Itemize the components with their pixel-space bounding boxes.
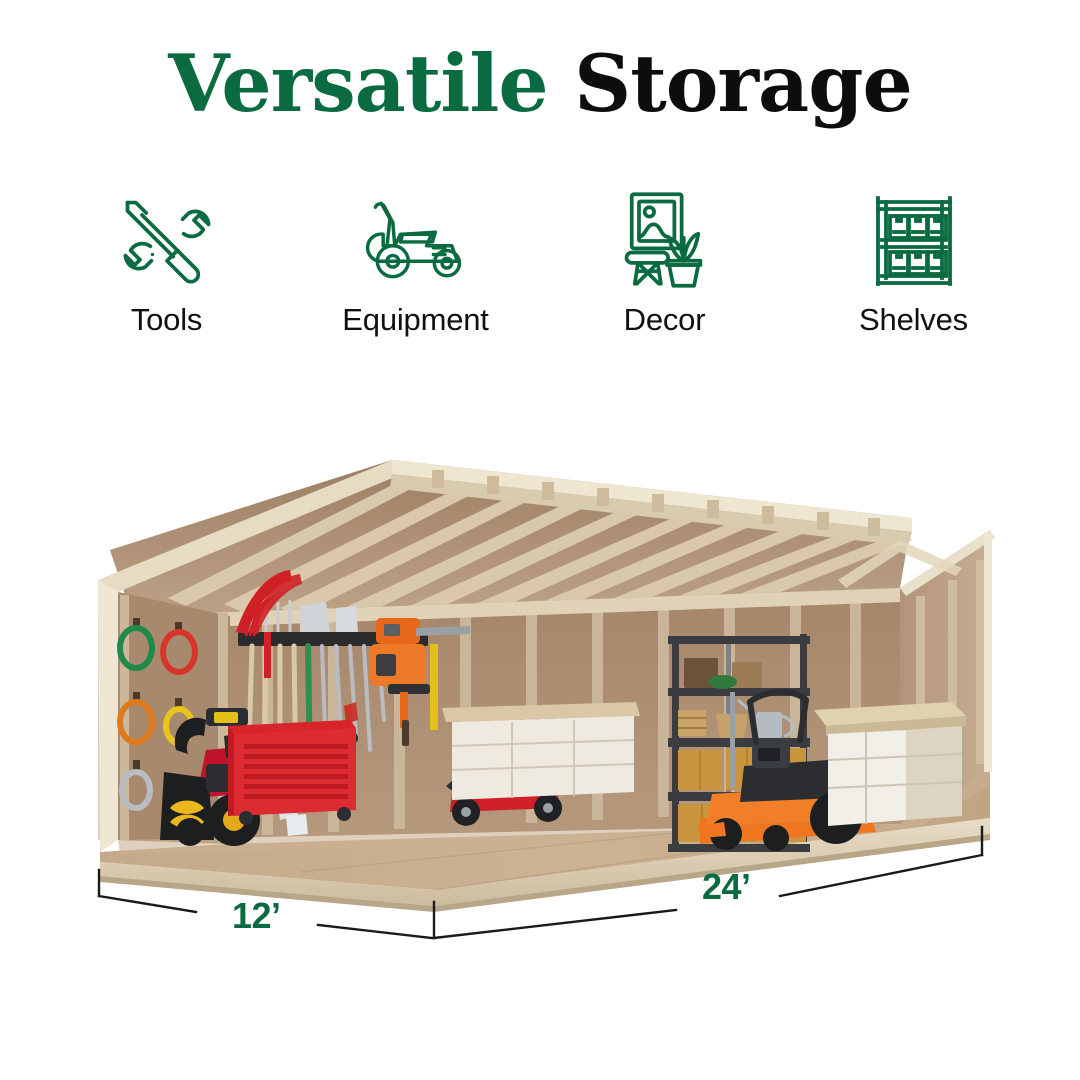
feature-list: Tools (42, 186, 1038, 354)
lawn-mower-icon (360, 186, 472, 294)
feature-label-shelves: Shelves (859, 302, 968, 338)
picture-plant-icon (615, 186, 715, 294)
crossed-tools-icon (115, 186, 219, 294)
feature-label-tools: Tools (131, 302, 202, 338)
dimension-label-width: 12’ (232, 895, 281, 937)
page-title: Versatile Storage (0, 44, 1080, 123)
title-word-versatile: Versatile (168, 37, 547, 130)
title-word-storage: Storage (574, 37, 912, 130)
center-workbench (442, 702, 640, 800)
storage-shed-infographic: Versatile Storage (0, 0, 1080, 1080)
red-tool-chest (228, 720, 356, 825)
feature-label-decor: Decor (624, 302, 706, 338)
feature-item-shelves[interactable]: Shelves (789, 186, 1038, 338)
feature-label-equipment: Equipment (342, 302, 488, 338)
dimension-label-length: 24’ (702, 866, 751, 908)
feature-item-decor[interactable]: Decor (540, 186, 789, 338)
shelving-boxes-icon (864, 186, 964, 294)
feature-item-tools[interactable]: Tools (42, 186, 291, 338)
storage-shed-cutaway (0, 420, 1080, 980)
feature-item-equipment[interactable]: Equipment (291, 186, 540, 338)
workbench-cabinet (814, 702, 966, 826)
